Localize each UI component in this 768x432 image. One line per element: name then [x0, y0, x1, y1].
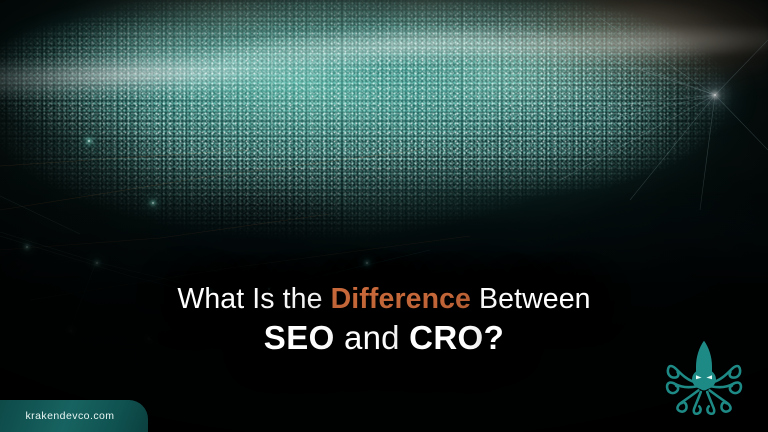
domain-tab[interactable]: krakendevco.com	[0, 400, 148, 432]
headline-conjunction: and	[335, 319, 409, 356]
headline-question-mark: ?	[484, 319, 505, 356]
headline-block: What Is the Difference Between SEO and C…	[0, 281, 768, 359]
blog-hero-banner: What Is the Difference Between SEO and C…	[0, 0, 768, 432]
kraken-squid-logo	[662, 336, 746, 416]
headline-term-seo: SEO	[264, 319, 335, 356]
headline-line-2: SEO and CRO?	[40, 317, 728, 359]
headline-text-part-1: What Is the	[177, 283, 330, 315]
headline-term-cro: CRO	[409, 319, 484, 356]
kraken-squid-icon	[662, 336, 746, 416]
domain-tab-label: krakendevco.com	[25, 410, 122, 422]
kraken-head	[692, 369, 716, 390]
vignette-overlay	[0, 0, 768, 432]
headline-line-1: What Is the Difference Between	[40, 281, 728, 317]
headline-highlight-difference: Difference	[331, 283, 471, 315]
headline-text-part-2: Between	[471, 283, 591, 315]
